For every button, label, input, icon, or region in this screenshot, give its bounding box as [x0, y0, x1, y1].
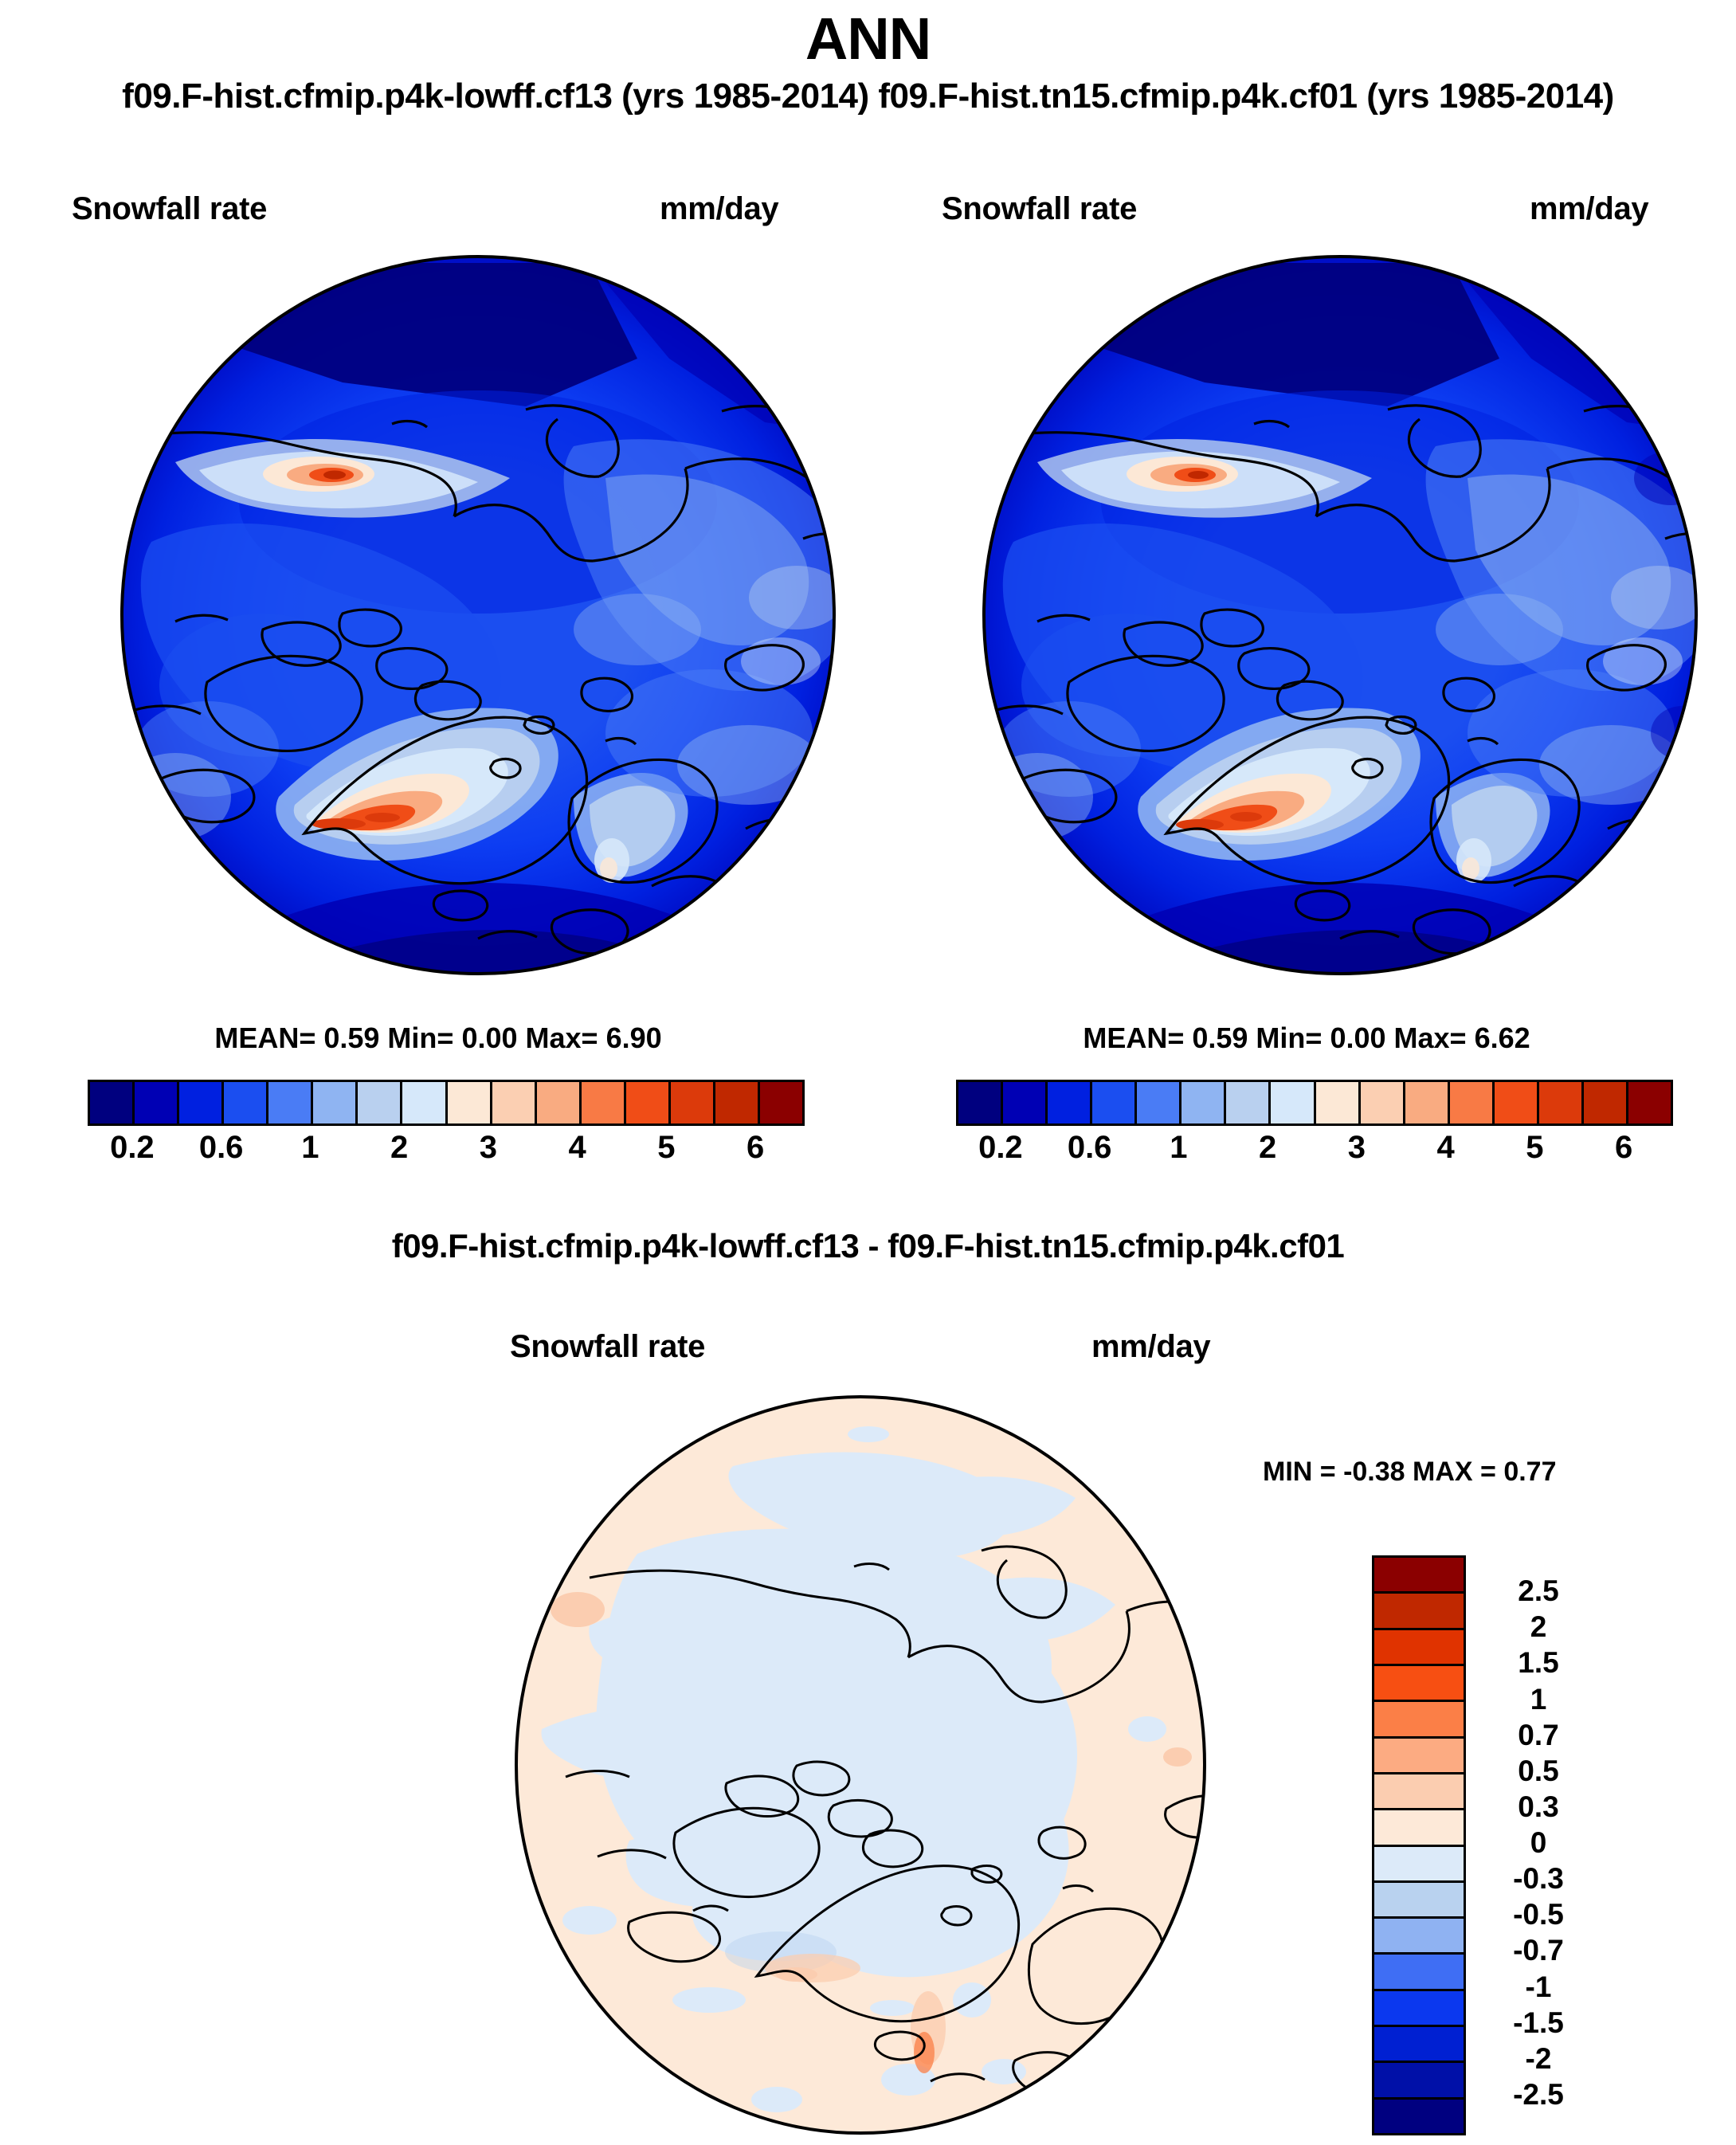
colorbar-segment [1374, 1774, 1464, 1810]
colorbar-segment [90, 1082, 135, 1123]
left-colorbar-ticks: 0.20.6123456 [88, 1130, 800, 1167]
colorbar-segment [448, 1082, 492, 1123]
colorbar-segment [1374, 1558, 1464, 1594]
colorbar-tick-label: -0.3 [1479, 1862, 1598, 1896]
colorbar-tick-label: 6 [747, 1130, 764, 1166]
colorbar-tick-label: 0.6 [199, 1130, 244, 1166]
right-colorbar-ticks: 0.20.6123456 [956, 1130, 1668, 1167]
colorbar-tick-label: 2 [1259, 1130, 1276, 1166]
colorbar-segment [1181, 1082, 1226, 1123]
colorbar-tick-label: 6 [1615, 1130, 1632, 1166]
colorbar-tick-label: 5 [657, 1130, 675, 1166]
colorbar-segment [1374, 1666, 1464, 1702]
colorbar-tick-label: 3 [480, 1130, 497, 1166]
colorbar-tick-label: -0.5 [1479, 1898, 1598, 1931]
difference-map-plot[interactable] [494, 1394, 1227, 2135]
colorbar-segment [582, 1082, 626, 1123]
right-panel-variable-label: Snowfall rate [942, 191, 1137, 227]
difference-colorbar[interactable] [1372, 1555, 1466, 2135]
colorbar-tick-label: 1.5 [1479, 1646, 1598, 1680]
colorbar-segment [492, 1082, 537, 1123]
colorbar-segment [1374, 2100, 1464, 2133]
colorbar-segment [1450, 1082, 1495, 1123]
colorbar-segment [1374, 1883, 1464, 1919]
colorbar-segment [1137, 1082, 1181, 1123]
colorbar-segment [1405, 1082, 1450, 1123]
difference-variable-label: Snowfall rate [510, 1329, 705, 1365]
colorbar-tick-label: -2.5 [1479, 2078, 1598, 2112]
colorbar-segment [1092, 1082, 1137, 1123]
colorbar-tick-label: 4 [569, 1130, 586, 1166]
colorbar-segment [268, 1082, 313, 1123]
colorbar-segment [402, 1082, 447, 1123]
colorbar-segment [1374, 1991, 1464, 2027]
colorbar-tick-label: -1 [1479, 1970, 1598, 2004]
colorbar-tick-label: -2 [1479, 2042, 1598, 2076]
difference-units-label: mm/day [1091, 1329, 1210, 1365]
colorbar-segment [135, 1082, 179, 1123]
difference-map-field [494, 1394, 1227, 2135]
colorbar-tick-label: 0.2 [110, 1130, 155, 1166]
right-panel-stats: MEAN= 0.59 Min= 0.00 Max= 6.62 [948, 1022, 1665, 1055]
colorbar-tick-label: 2 [1479, 1610, 1598, 1644]
colorbar-tick-label: 1 [1170, 1130, 1187, 1166]
colorbar-segment [1271, 1082, 1315, 1123]
difference-title: f09.F-hist.cfmip.p4k-lowff.cf13 - f09.F-… [0, 1227, 1736, 1265]
colorbar-segment [1374, 1810, 1464, 1846]
right-colorbar[interactable] [956, 1080, 1673, 1126]
colorbar-segment [1374, 1919, 1464, 1955]
colorbar-segment [1226, 1082, 1271, 1123]
colorbar-tick-label: 1 [301, 1130, 319, 1166]
colorbar-segment [1316, 1082, 1361, 1123]
colorbar-segment [1374, 1594, 1464, 1629]
colorbar-tick-label: 0.6 [1068, 1130, 1112, 1166]
colorbar-segment [179, 1082, 224, 1123]
right-map-svg [950, 239, 1736, 996]
colorbar-segment [1048, 1082, 1092, 1123]
colorbar-segment [1374, 1702, 1464, 1738]
colorbar-tick-label: 0.5 [1479, 1755, 1598, 1788]
colorbar-segment [1374, 1739, 1464, 1774]
colorbar-segment [1374, 2027, 1464, 2063]
left-panel-variable-label: Snowfall rate [72, 191, 267, 227]
difference-map-svg [494, 1394, 1227, 2135]
colorbar-segment [1003, 1082, 1048, 1123]
colorbar-segment [626, 1082, 671, 1123]
left-colorbar[interactable] [88, 1080, 805, 1126]
colorbar-tick-label: 5 [1526, 1130, 1543, 1166]
colorbar-segment [224, 1082, 268, 1123]
colorbar-segment [1495, 1082, 1539, 1123]
colorbar-segment [1374, 2063, 1464, 2099]
difference-colorbar-ticks: 2.521.510.70.50.30-0.3-0.5-0.7-1-1.5-2-2… [1479, 1555, 1654, 2131]
colorbar-tick-label: 0 [1479, 1826, 1598, 1860]
colorbar-segment [1628, 1082, 1671, 1123]
left-panel-stats: MEAN= 0.59 Min= 0.00 Max= 6.90 [80, 1022, 797, 1055]
colorbar-tick-label: 3 [1348, 1130, 1366, 1166]
colorbar-tick-label: 0.2 [978, 1130, 1023, 1166]
colorbar-segment [1374, 1955, 1464, 1990]
colorbar-segment [537, 1082, 582, 1123]
colorbar-tick-label: 2 [390, 1130, 408, 1166]
colorbar-tick-label: -0.7 [1479, 1934, 1598, 1967]
colorbar-segment [1374, 1630, 1464, 1666]
colorbar-segment [1361, 1082, 1405, 1123]
colorbar-segment [1539, 1082, 1584, 1123]
figure-subtitle: f09.F-hist.cfmip.p4k-lowff.cf13 (yrs 198… [0, 76, 1736, 116]
colorbar-segment [1584, 1082, 1628, 1123]
colorbar-segment [958, 1082, 1003, 1123]
colorbar-tick-label: 1 [1479, 1683, 1598, 1716]
colorbar-tick-label: 0.3 [1479, 1790, 1598, 1824]
colorbar-segment [715, 1082, 760, 1123]
left-map-svg [80, 239, 876, 996]
colorbar-segment [760, 1082, 802, 1123]
colorbar-tick-label: -1.5 [1479, 2006, 1598, 2040]
right-map-plot[interactable] [950, 239, 1736, 996]
colorbar-segment [1374, 1847, 1464, 1883]
left-map-plot[interactable] [80, 239, 876, 996]
colorbar-segment [313, 1082, 358, 1123]
colorbar-tick-label: 0.7 [1479, 1719, 1598, 1752]
colorbar-segment [671, 1082, 715, 1123]
right-panel-units-label: mm/day [1530, 191, 1648, 227]
colorbar-segment [358, 1082, 402, 1123]
figure-main-title: ANN [0, 5, 1736, 73]
colorbar-tick-label: 4 [1437, 1130, 1455, 1166]
colorbar-tick-label: 2.5 [1479, 1574, 1598, 1608]
difference-minmax-label: MIN = -0.38 MAX = 0.77 [1263, 1457, 1557, 1488]
left-panel-units-label: mm/day [660, 191, 778, 227]
